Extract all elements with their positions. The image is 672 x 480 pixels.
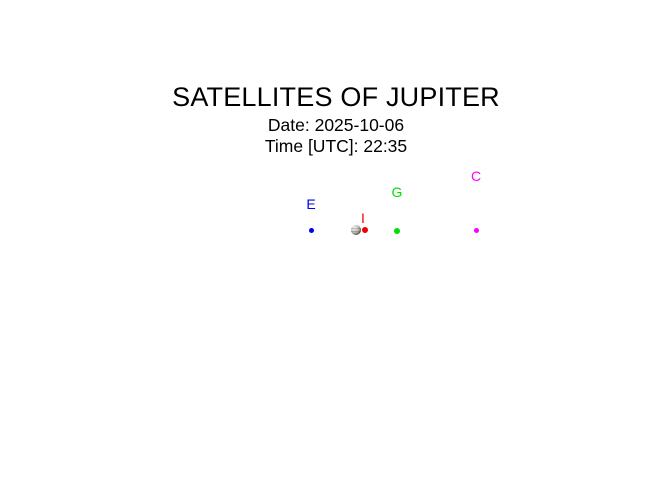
satellite-diagram-canvas: SATELLITES OF JUPITER Date: 2025-10-06 T… xyxy=(0,0,672,480)
moon-label-io: I xyxy=(361,211,365,225)
moon-label-europa: E xyxy=(306,197,315,211)
moon-marker-europa xyxy=(309,228,314,233)
moon-label-ganymede: G xyxy=(392,185,403,199)
sky-plot-area: EIGC xyxy=(0,0,672,480)
moon-marker-io xyxy=(362,227,368,233)
jupiter-disc xyxy=(351,225,361,235)
moon-marker-ganymede xyxy=(394,228,400,234)
jupiter-cloud-band xyxy=(351,231,361,232)
moon-label-callisto: C xyxy=(471,169,481,183)
moon-marker-callisto xyxy=(474,228,479,233)
jupiter-cloud-band xyxy=(351,228,361,229)
